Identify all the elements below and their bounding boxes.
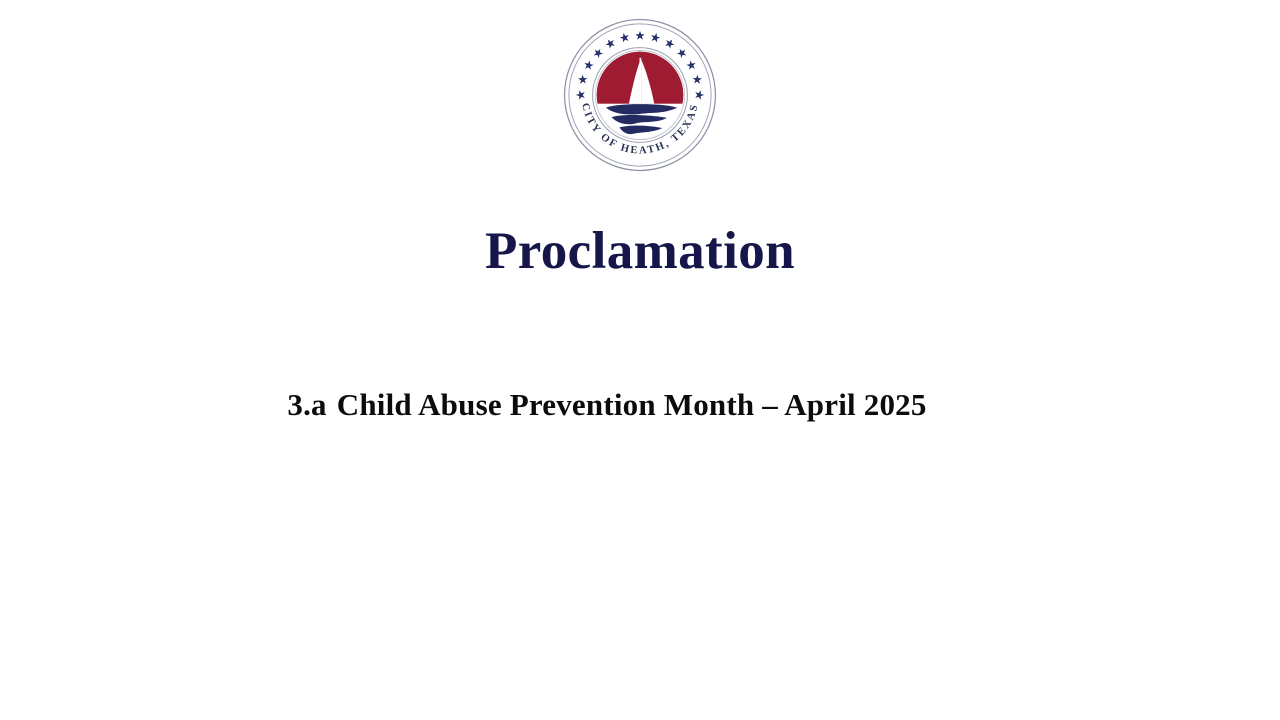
page-title: Proclamation <box>0 222 1280 281</box>
agenda-item-title: Child Abuse Prevention Month – April 202… <box>337 387 927 422</box>
agenda-item-number: 3.a <box>287 387 326 422</box>
agenda-item-inner: 3.aChild Abuse Prevention Month – April … <box>287 386 926 423</box>
agenda-item-line: 3.aChild Abuse Prevention Month – April … <box>0 386 1280 423</box>
proclamation-slide: CITY OF HEATH, TEXAS Proclamation 3.aChi… <box>0 0 1280 720</box>
seal-container: CITY OF HEATH, TEXAS <box>0 16 1280 174</box>
city-of-heath-texas-seal-icon: CITY OF HEATH, TEXAS <box>561 16 719 174</box>
